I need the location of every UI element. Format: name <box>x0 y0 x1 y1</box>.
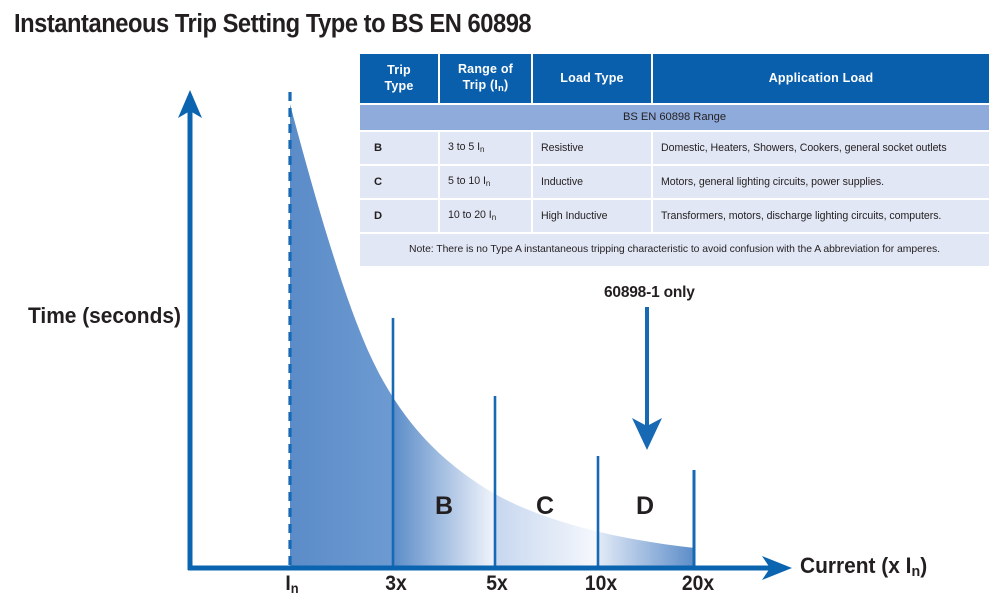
table-row: D 10 to 20 In High Inductive Transformer… <box>360 200 989 232</box>
x-tick-in-sub: n <box>291 580 299 596</box>
cell-load-type-d: High Inductive <box>533 200 651 232</box>
cell-application-d: Transformers, motors, discharge lighting… <box>653 200 989 232</box>
range-banner-cell: BS EN 60898 Range <box>360 105 989 130</box>
cell-load-type-b: Resistive <box>533 132 651 164</box>
x-axis-title-end: ) <box>920 553 927 578</box>
x-axis-title-subscript: n <box>911 563 920 580</box>
annotation-label: 60898-1 only <box>604 284 695 302</box>
cell-range-d: 10 to 20 In <box>440 200 531 232</box>
y-axis-title: Time (seconds) <box>28 303 181 329</box>
x-tick-label-5x: 5x <box>486 572 507 596</box>
chart-page: Instantaneous Trip Setting Type to BS EN… <box>0 0 1004 615</box>
cell-trip-type-d: D <box>360 200 438 232</box>
band-label-b: B <box>435 492 453 521</box>
header-load-type: Load Type <box>533 54 651 103</box>
cell-application-b: Domestic, Heaters, Showers, Cookers, gen… <box>653 132 989 164</box>
table-row: B 3 to 5 In Resistive Domestic, Heaters,… <box>360 132 989 164</box>
x-axis-title-main: Current (x I <box>800 553 911 578</box>
cell-trip-type-b: B <box>360 132 438 164</box>
table-range-banner-row: BS EN 60898 Range <box>360 105 989 130</box>
header-trip-type: TripType <box>360 54 438 103</box>
table-note-row: Note: There is no Type A instantaneous t… <box>360 234 989 266</box>
cell-range-b: 3 to 5 In <box>440 132 531 164</box>
cell-load-type-c: Inductive <box>533 166 651 198</box>
x-tick-label-in: In <box>285 572 298 596</box>
header-application-load: Application Load <box>653 54 989 103</box>
cell-application-c: Motors, general lighting circuits, power… <box>653 166 989 198</box>
band-label-d: D <box>636 492 654 521</box>
x-tick-label-3x: 3x <box>385 572 406 596</box>
x-tick-label-10x: 10x <box>585 572 617 596</box>
x-tick-label-20x: 20x <box>682 572 714 596</box>
header-range-of-trip: Range ofTrip (In) <box>440 54 531 103</box>
cell-range-c: 5 to 10 In <box>440 166 531 198</box>
table-header-row: TripType Range ofTrip (In) Load Type App… <box>360 54 989 103</box>
x-axis-title: Current (x In) <box>800 553 927 580</box>
cell-trip-type-c: C <box>360 166 438 198</box>
table-row: C 5 to 10 In Inductive Motors, general l… <box>360 166 989 198</box>
table-note-cell: Note: There is no Type A instantaneous t… <box>360 234 989 266</box>
trip-setting-table: TripType Range ofTrip (In) Load Type App… <box>358 52 991 268</box>
band-label-c: C <box>536 492 554 521</box>
